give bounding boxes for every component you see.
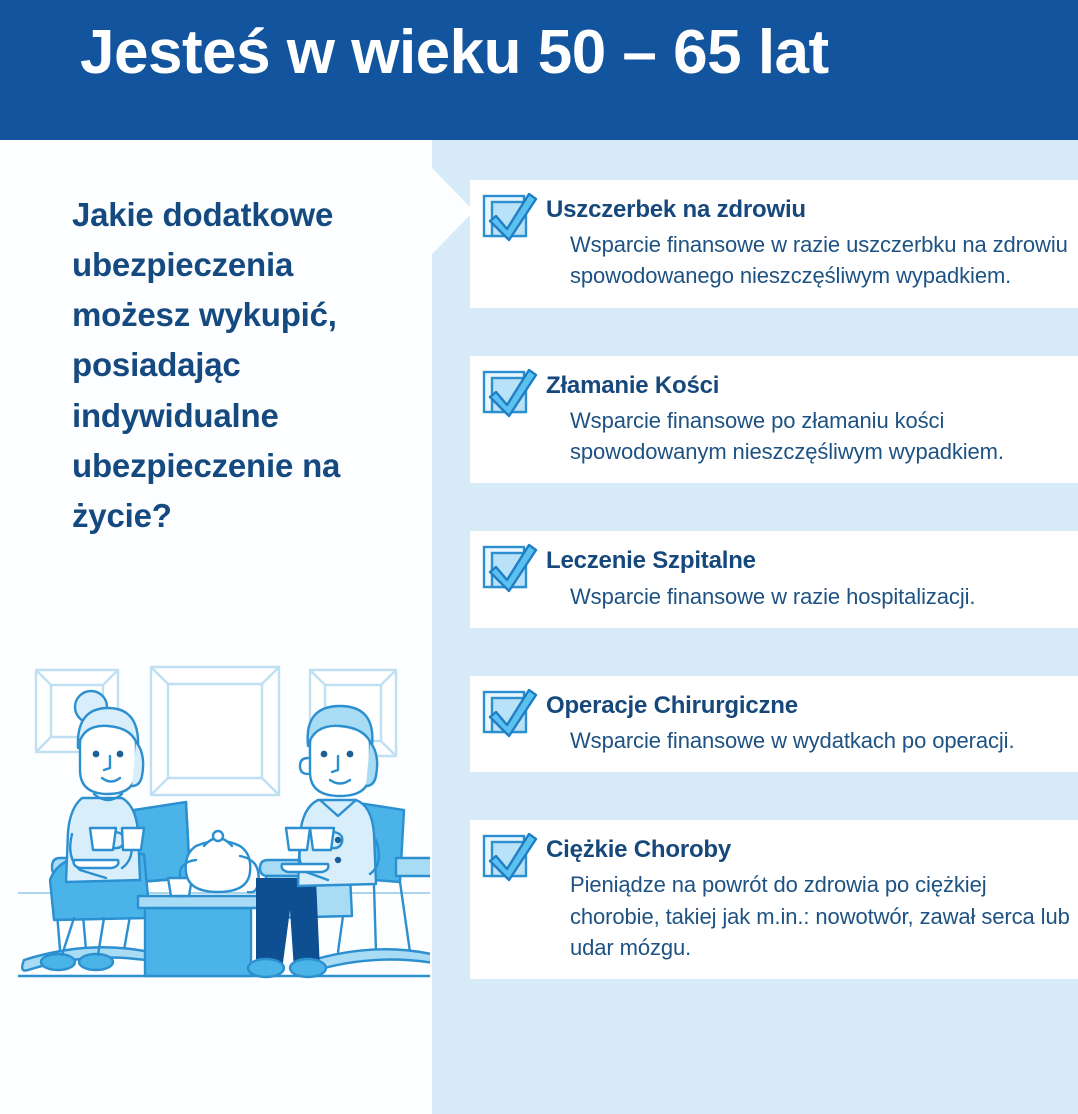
list-item[interactable]: Uszczerbek na zdrowiu Wsparcie finansowe… — [470, 180, 1078, 308]
benefits-list: Uszczerbek na zdrowiu Wsparcie finansowe… — [470, 180, 1078, 979]
checkbox-checked-icon — [480, 684, 538, 742]
left-column: Jakie dodatkowe ubezpieczenia możesz wyk… — [0, 140, 432, 1114]
page-title: Jesteś w wieku 50 – 65 lat — [80, 22, 829, 84]
item-description: Pieniądze na powrót do zdrowia po ciężki… — [570, 869, 1078, 963]
list-item[interactable]: Ciężkie Choroby Pieniądze na powrót do z… — [470, 820, 1078, 979]
item-description: Wsparcie finansowe w razie uszczerbku na… — [570, 229, 1078, 291]
list-item[interactable]: Złamanie Kości Wsparcie finansowe po zła… — [470, 356, 1078, 484]
list-item[interactable]: Leczenie Szpitalne Wsparcie finansowe w … — [470, 531, 1078, 627]
item-title: Leczenie Szpitalne — [546, 545, 1078, 576]
item-title: Uszczerbek na zdrowiu — [546, 194, 1078, 225]
infographic-page: Jesteś w wieku 50 – 65 lat Jakie dodatko… — [0, 0, 1078, 1114]
item-description: Wsparcie finansowe w wydatkach po operac… — [570, 725, 1078, 756]
item-title: Złamanie Kości — [546, 370, 1078, 401]
item-title: Ciężkie Choroby — [546, 834, 1078, 865]
list-item[interactable]: Operacje Chirurgiczne Wsparcie finansowe… — [470, 676, 1078, 772]
item-description: Wsparcie finansowe po złamaniu kości spo… — [570, 405, 1078, 467]
checkbox-checked-icon — [480, 539, 538, 597]
left-heading: Jakie dodatkowe ubezpieczenia możesz wyk… — [72, 190, 417, 541]
arrow-pointer-icon — [432, 168, 474, 254]
checkbox-checked-icon — [480, 828, 538, 886]
item-title: Operacje Chirurgiczne — [546, 690, 1078, 721]
checkbox-checked-icon — [480, 188, 538, 246]
item-description: Wsparcie finansowe w razie hospitalizacj… — [570, 581, 1078, 612]
checkbox-checked-icon — [480, 364, 538, 422]
header-banner: Jesteś w wieku 50 – 65 lat — [0, 0, 1078, 140]
elderly-couple-illustration: .ol{fill:none;stroke:#2b8fd0;stroke-widt… — [18, 650, 430, 1000]
